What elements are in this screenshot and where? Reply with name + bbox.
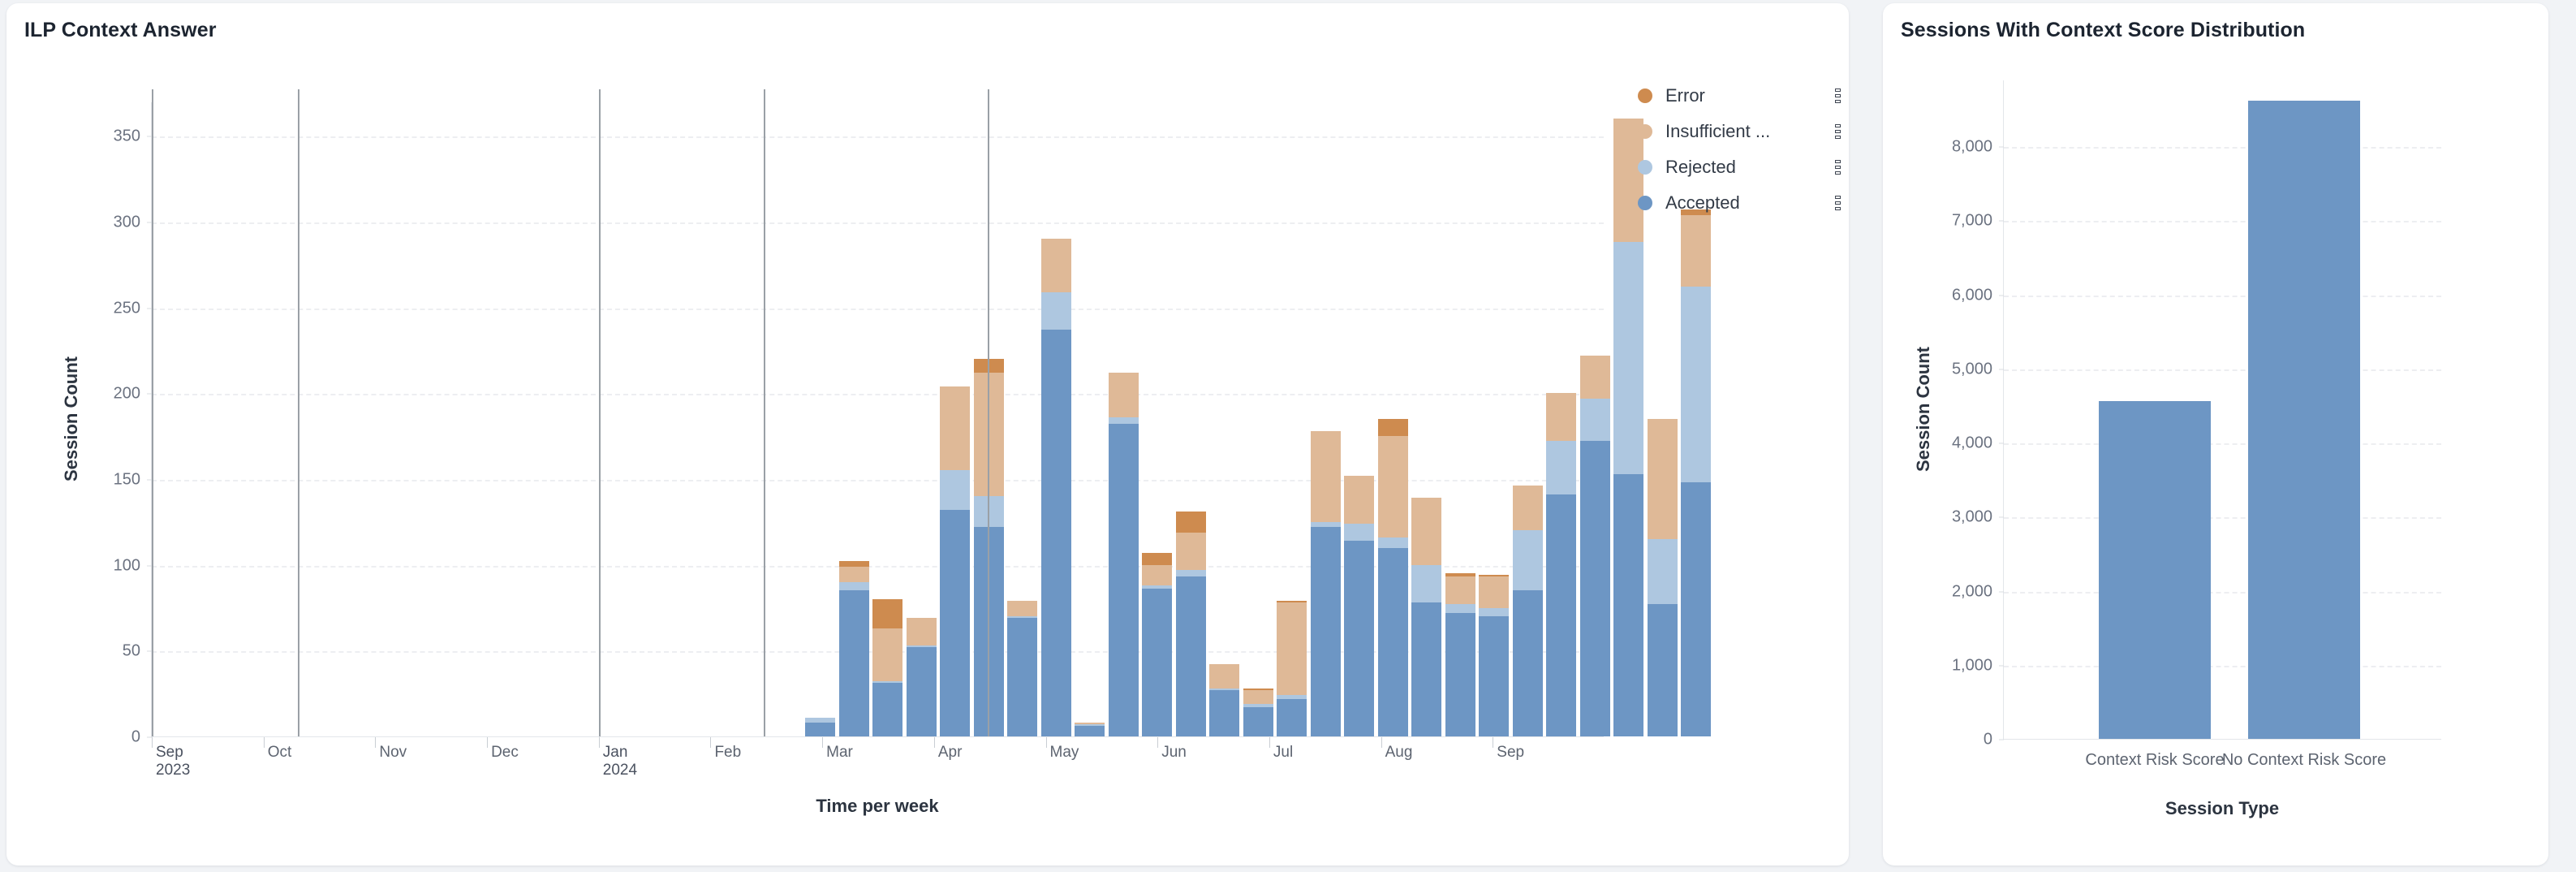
bar-segment-insufficient[interactable] <box>1176 533 1206 570</box>
stacked-bar[interactable] <box>1075 723 1105 736</box>
bar-segment-insufficient[interactable] <box>1209 664 1239 689</box>
stacked-bar[interactable] <box>872 599 902 736</box>
gridline <box>2004 666 2441 667</box>
bar-segment-accepted[interactable] <box>1546 494 1576 736</box>
gridline <box>152 394 1604 395</box>
legend-item-label: Error <box>1665 85 1827 106</box>
x-axis-tick-label: Jun <box>1157 744 1187 762</box>
panel-title-right: Sessions With Context Score Distribution <box>1883 3 2548 42</box>
stacked-bar[interactable] <box>940 386 970 736</box>
panel-sessions-with-context-score-distribution: Sessions With Context Score Distribution… <box>1883 3 2548 866</box>
x-axis-tick-label: Oct <box>264 744 292 762</box>
stacked-bar[interactable] <box>1176 512 1206 736</box>
bar-segment-rejected[interactable] <box>839 582 869 591</box>
x-axis-category-label: Context Risk Score <box>2085 751 2224 770</box>
y-tick-mark <box>1999 517 2004 518</box>
bar-segment-error[interactable] <box>1378 419 1408 436</box>
stacked-bar[interactable] <box>1277 601 1307 736</box>
x-axis-title-left: Time per week <box>151 796 1604 817</box>
bar-segment-accepted[interactable] <box>1075 726 1105 736</box>
bar-segment-accepted[interactable] <box>1580 441 1610 736</box>
x-axis-tick-label: Mar <box>822 744 853 762</box>
y-axis-tick-label: 4,000 <box>1952 434 1992 453</box>
bar-segment-insufficient[interactable] <box>839 567 869 582</box>
stacked-bar[interactable] <box>1411 498 1441 736</box>
dashboard: ILP Context Answer 050100150200250300350… <box>0 0 2576 872</box>
drag-handle-icon[interactable] <box>1835 124 1841 139</box>
gridline <box>2004 221 2441 222</box>
legend-item-rejected[interactable]: Rejected <box>1638 149 1841 185</box>
y-axis-tick-label: 200 <box>114 385 140 404</box>
y-tick-mark <box>1999 369 2004 369</box>
y-axis-tick-label: 250 <box>114 299 140 317</box>
legend-color-swatch <box>1638 196 1652 210</box>
y-axis-title-left: Session Count <box>61 297 82 541</box>
y-tick-mark <box>1999 740 2004 740</box>
bar-segment-accepted[interactable] <box>1344 541 1374 736</box>
legend-item-insufficient[interactable]: Insufficient ... <box>1638 114 1841 149</box>
plot-area-left: 050100150200250300350Sep 2023OctNovDecJa… <box>151 102 1604 737</box>
bar-segment-accepted[interactable] <box>907 647 937 736</box>
bar-segment-rejected[interactable] <box>1513 530 1543 590</box>
y-axis-tick-label: 150 <box>114 470 140 489</box>
bar-segment-insufficient[interactable] <box>940 386 970 471</box>
x-axis-tick-label: Aug <box>1381 744 1413 762</box>
bar-segment-accepted[interactable] <box>1378 548 1408 736</box>
bar-segment-accepted[interactable] <box>1041 330 1071 736</box>
bar-segment-accepted[interactable] <box>1109 424 1139 736</box>
drag-handle-icon[interactable] <box>1835 196 1841 210</box>
bar-segment-accepted[interactable] <box>1007 618 1037 736</box>
stacked-bar[interactable] <box>1445 573 1475 736</box>
bar-segment-insufficient[interactable] <box>1344 476 1374 524</box>
bar-segment-error[interactable] <box>1176 512 1206 532</box>
bar-segment-accepted[interactable] <box>1176 576 1206 736</box>
chart-legend: ErrorInsufficient ...RejectedAccepted <box>1638 78 1841 221</box>
bar-context-risk-score[interactable] <box>2099 401 2211 739</box>
bar-segment-accepted[interactable] <box>1411 602 1441 736</box>
bar-segment-accepted[interactable] <box>1142 589 1172 736</box>
bar-segment-accepted[interactable] <box>872 683 902 736</box>
y-axis-tick-label: 0 <box>1984 731 1992 749</box>
legend-item-error[interactable]: Error <box>1638 78 1841 114</box>
bar-segment-accepted[interactable] <box>1311 527 1341 736</box>
legend-color-swatch <box>1638 160 1652 175</box>
stacked-bar[interactable] <box>1311 431 1341 736</box>
x-axis-tick-label: Jul <box>1269 744 1293 762</box>
bar-segment-rejected[interactable] <box>940 470 970 510</box>
bar-segment-rejected[interactable] <box>1479 608 1509 617</box>
legend-color-swatch <box>1638 88 1652 103</box>
bar-segment-insufficient[interactable] <box>1546 393 1576 441</box>
bar-segment-accepted[interactable] <box>1209 690 1239 736</box>
drag-handle-icon[interactable] <box>1835 160 1841 175</box>
y-axis-tick-label: 350 <box>114 127 140 146</box>
stacked-bar[interactable] <box>907 618 937 736</box>
y-tick-mark <box>1999 295 2004 296</box>
stacked-bar[interactable] <box>1243 689 1273 736</box>
year-boundary-line <box>599 89 601 736</box>
gridline <box>152 309 1604 310</box>
y-tick-mark <box>1999 443 2004 444</box>
y-axis-tick-label: 0 <box>131 728 140 747</box>
bar-segment-accepted[interactable] <box>1277 699 1307 736</box>
bar-segment-rejected[interactable] <box>1344 524 1374 541</box>
stacked-bar[interactable] <box>805 718 835 736</box>
plot-area-right: 01,0002,0003,0004,0005,0006,0007,0008,00… <box>2003 80 2441 740</box>
bar-no-context-risk-score[interactable] <box>2248 101 2360 739</box>
bar-segment-accepted[interactable] <box>940 510 970 736</box>
panel-ilp-context-answer: ILP Context Answer 050100150200250300350… <box>6 3 1849 866</box>
drag-handle-icon[interactable] <box>1835 88 1841 103</box>
bar-segment-rejected[interactable] <box>1580 399 1610 442</box>
bar-segment-accepted[interactable] <box>1445 613 1475 736</box>
x-axis-tick-label: Apr <box>934 744 963 762</box>
bar-segment-insufficient[interactable] <box>1142 565 1172 585</box>
bar-segment-rejected[interactable] <box>1648 539 1678 604</box>
gridline <box>2004 592 2441 594</box>
bar-segment-insufficient[interactable] <box>1109 373 1139 417</box>
bar-segment-rejected[interactable] <box>1109 417 1139 424</box>
bar-segment-error[interactable] <box>872 599 902 628</box>
y-tick-mark <box>1999 591 2004 592</box>
gridline <box>2004 369 2441 371</box>
legend-color-swatch <box>1638 124 1652 139</box>
stacked-bar[interactable] <box>1378 419 1408 736</box>
bar-segment-rejected[interactable] <box>1681 287 1711 482</box>
bar-segment-rejected[interactable] <box>1613 242 1643 473</box>
y-axis-tick-label: 5,000 <box>1952 360 1992 378</box>
period-separator-line <box>298 89 299 736</box>
x-axis-tick-label: Jan 2024 <box>599 744 637 779</box>
x-axis-tick-label: Sep 2023 <box>152 744 190 779</box>
y-axis-tick-label: 300 <box>114 213 140 231</box>
stacked-bar[interactable] <box>1479 575 1509 736</box>
session-type-bar-chart: 01,0002,0003,0004,0005,0006,0007,0008,00… <box>2003 80 2441 740</box>
period-separator-line <box>988 89 989 736</box>
bar-segment-accepted[interactable] <box>1243 707 1273 736</box>
stacked-bar[interactable] <box>1681 209 1711 736</box>
stacked-bar[interactable] <box>1041 239 1071 736</box>
y-axis-tick-label: 7,000 <box>1952 212 1992 231</box>
bar-segment-insufficient[interactable] <box>1580 356 1610 399</box>
stacked-bar[interactable] <box>1209 664 1239 736</box>
bar-segment-accepted[interactable] <box>839 590 869 736</box>
gridline <box>152 136 1604 138</box>
y-axis-tick-label: 2,000 <box>1952 582 1992 601</box>
stacked-bar[interactable] <box>1007 601 1037 736</box>
panel-title-left: ILP Context Answer <box>6 3 1849 42</box>
y-tick-mark <box>1999 147 2004 148</box>
y-axis-tick-label: 1,000 <box>1952 656 1992 675</box>
bar-segment-rejected[interactable] <box>1041 292 1071 330</box>
bar-segment-insufficient[interactable] <box>1681 215 1711 287</box>
gridline <box>2004 517 2441 519</box>
x-axis-tick-label: May <box>1046 744 1079 762</box>
gridline <box>2004 147 2441 149</box>
y-tick-mark <box>1999 221 2004 222</box>
stacked-bar[interactable] <box>1344 476 1374 736</box>
bar-segment-insufficient[interactable] <box>1311 431 1341 522</box>
bar-segment-insufficient[interactable] <box>1007 601 1037 616</box>
bar-segment-rejected[interactable] <box>1176 570 1206 576</box>
y-axis-tick-label: 6,000 <box>1952 286 1992 304</box>
legend-item-label: Accepted <box>1665 192 1827 214</box>
bar-segment-accepted[interactable] <box>1681 482 1711 736</box>
year-boundary-line <box>152 89 153 736</box>
y-axis-tick-label: 50 <box>123 642 140 661</box>
legend-item-accepted[interactable]: Accepted <box>1638 185 1841 221</box>
bar-segment-accepted[interactable] <box>1613 474 1643 736</box>
x-axis-title-right: Session Type <box>2003 798 2441 819</box>
stacked-bar-chart: 050100150200250300350Sep 2023OctNovDecJa… <box>151 102 1604 737</box>
bar-segment-accepted[interactable] <box>1648 604 1678 736</box>
y-axis-tick-label: 8,000 <box>1952 138 1992 157</box>
x-axis-tick-label: Sep <box>1493 744 1524 762</box>
legend-item-label: Rejected <box>1665 157 1827 178</box>
bar-segment-rejected[interactable] <box>1378 537 1408 548</box>
bar-segment-insufficient[interactable] <box>1243 690 1273 704</box>
stacked-bar[interactable] <box>1109 373 1139 736</box>
gridline <box>152 222 1604 224</box>
x-axis-tick-label: Nov <box>375 744 407 762</box>
bar-segment-insufficient[interactable] <box>1479 576 1509 607</box>
period-separator-line <box>764 89 765 736</box>
bar-segment-rejected[interactable] <box>1445 604 1475 613</box>
bar-segment-insufficient[interactable] <box>1648 419 1678 539</box>
x-axis-tick-label: Feb <box>710 744 741 762</box>
y-axis-tick-label: 3,000 <box>1952 508 1992 527</box>
x-axis-category-label: No Context Risk Score <box>2222 751 2386 770</box>
bar-segment-insufficient[interactable] <box>1445 576 1475 604</box>
bar-segment-accepted[interactable] <box>1479 616 1509 736</box>
legend-item-label: Insufficient ... <box>1665 121 1827 142</box>
y-axis-title-right: Session Count <box>1913 287 1934 531</box>
y-axis-tick-label: 100 <box>114 556 140 575</box>
bar-segment-insufficient[interactable] <box>1513 486 1543 530</box>
stacked-bar[interactable] <box>1513 486 1543 736</box>
bar-segment-insufficient[interactable] <box>1041 239 1071 292</box>
stacked-bar[interactable] <box>1142 553 1172 736</box>
bar-segment-error[interactable] <box>1142 553 1172 565</box>
bar-segment-rejected[interactable] <box>1411 565 1441 602</box>
stacked-bar[interactable] <box>1580 356 1610 736</box>
bar-segment-insufficient[interactable] <box>872 628 902 682</box>
gridline <box>2004 443 2441 445</box>
bar-segment-insufficient[interactable] <box>1277 602 1307 695</box>
bar-segment-accepted[interactable] <box>1513 590 1543 736</box>
bar-segment-rejected[interactable] <box>1546 441 1576 494</box>
bar-segment-insufficient[interactable] <box>1378 436 1408 537</box>
gridline <box>2004 296 2441 297</box>
y-tick-mark <box>1999 665 2004 666</box>
stacked-bar[interactable] <box>1546 393 1576 736</box>
bar-segment-accepted[interactable] <box>805 723 835 736</box>
bar-segment-insufficient[interactable] <box>907 618 937 645</box>
bar-segment-insufficient[interactable] <box>1411 498 1441 564</box>
x-axis-tick-label: Dec <box>487 744 519 762</box>
stacked-bar[interactable] <box>1648 419 1678 736</box>
stacked-bar[interactable] <box>839 561 869 736</box>
